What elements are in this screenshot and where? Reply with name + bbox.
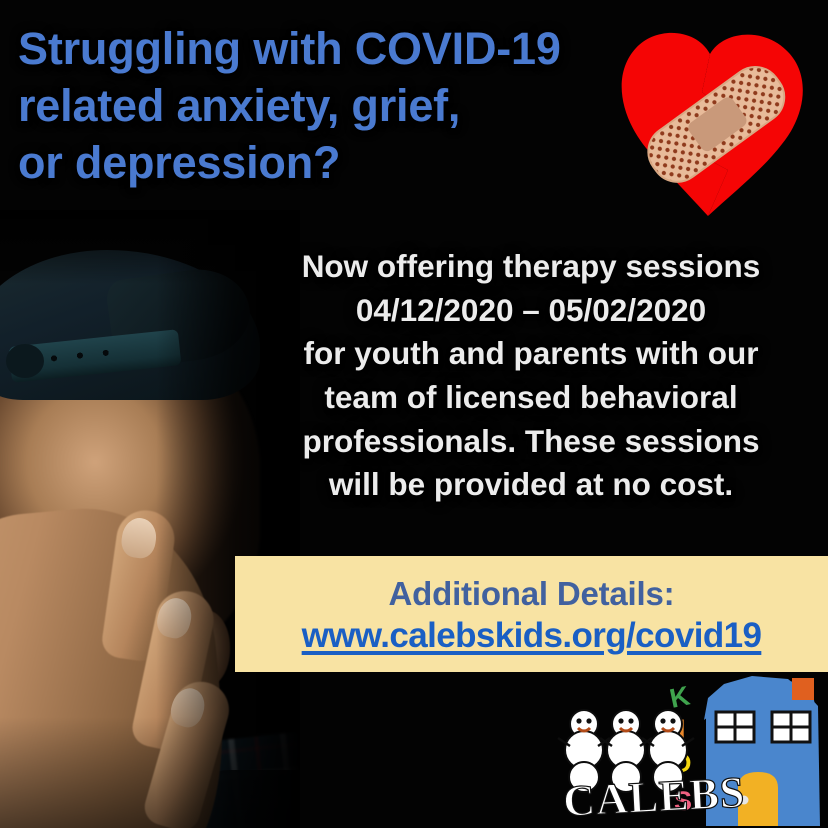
page-title: Struggling with COVID-19 related anxiety… — [18, 20, 698, 191]
body-line-3: for youth and parents with our — [248, 332, 814, 376]
body-line-4: team of licensed behavioral — [248, 376, 814, 420]
kids-letter-k: K — [667, 680, 693, 714]
additional-details-callout: Additional Details: www.calebskids.org/c… — [235, 556, 828, 672]
calebs-kids-logo[interactable]: K I D S — [556, 676, 828, 828]
house-window-right — [772, 712, 810, 742]
headline-line-3: or depression? — [18, 134, 698, 191]
body-line-5: professionals. These sessions — [248, 420, 814, 464]
body-line-1: Now offering therapy sessions — [248, 245, 814, 289]
body-line-6: will be provided at no cost. — [248, 463, 814, 507]
body-line-2-dates: 04/12/2020 – 05/02/2020 — [248, 289, 814, 333]
website-link[interactable]: www.calebskids.org/covid19 — [302, 615, 762, 657]
callout-title: Additional Details: — [389, 575, 675, 613]
poster-canvas: Struggling with COVID-19 related anxiety… — [0, 0, 828, 828]
body-copy: Now offering therapy sessions 04/12/2020… — [248, 245, 814, 507]
headline-line-2: related anxiety, grief, — [18, 77, 698, 134]
logo-wordmark: CALEBS — [562, 768, 746, 826]
house-window-left — [716, 712, 754, 742]
headline-line-1: Struggling with COVID-19 — [18, 20, 698, 77]
house-chimney — [792, 678, 814, 700]
